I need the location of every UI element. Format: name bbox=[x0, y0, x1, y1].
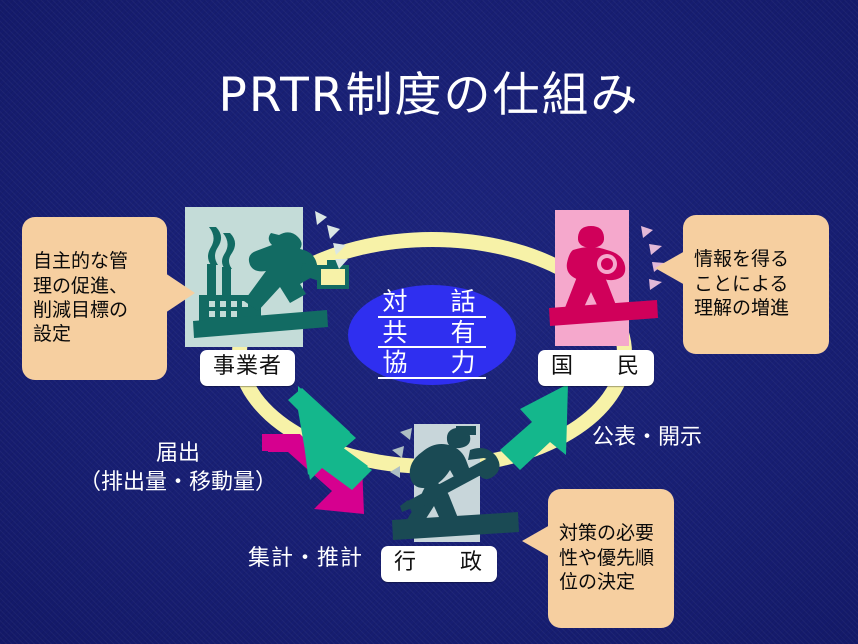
page-title: PRTR制度の仕組み bbox=[0, 72, 858, 119]
actor-panel-business bbox=[185, 207, 345, 352]
label-admin: 行 政 bbox=[381, 546, 497, 582]
caption-aggregation: 集計・推計 bbox=[248, 545, 363, 574]
label-business: 事業者 bbox=[200, 350, 295, 386]
callout-tail-icon bbox=[655, 251, 685, 285]
callout-citizen: 情報を得る ことによる 理解の増進 bbox=[683, 215, 829, 354]
actor-panel-admin bbox=[390, 424, 540, 549]
callout-business: 自主的な管 理の促進、 削減目標の 設定 bbox=[22, 217, 167, 380]
label-citizen: 国 民 bbox=[538, 350, 654, 386]
callout-admin-text: 対策の必要 性や優先順 位の決定 bbox=[559, 522, 654, 593]
callout-tail-icon bbox=[165, 273, 195, 313]
core-concept-ellipse: 対 話 共 有 協 力 bbox=[348, 285, 516, 385]
slide-canvas: PRTR制度の仕組み bbox=[0, 0, 858, 644]
callout-business-text: 自主的な管 理の促進、 削減目標の 設定 bbox=[33, 250, 128, 345]
core-line-1: 対 話 bbox=[378, 289, 485, 318]
caption-disclosure: 公表・開示 bbox=[592, 424, 702, 453]
briefcase-icon bbox=[317, 260, 349, 289]
core-line-2: 共 有 bbox=[378, 320, 485, 349]
official-writing-icon bbox=[392, 426, 519, 540]
core-line-3: 協 力 bbox=[378, 350, 485, 379]
spark-rays-icon bbox=[390, 428, 412, 478]
callout-citizen-text: 情報を得る ことによる 理解の増進 bbox=[694, 248, 789, 319]
callout-tail-icon bbox=[522, 525, 550, 557]
callout-admin: 対策の必要 性や優先順 位の決定 bbox=[548, 489, 674, 628]
caption-report: 届出 （排出量・移動量） bbox=[60, 440, 296, 497]
